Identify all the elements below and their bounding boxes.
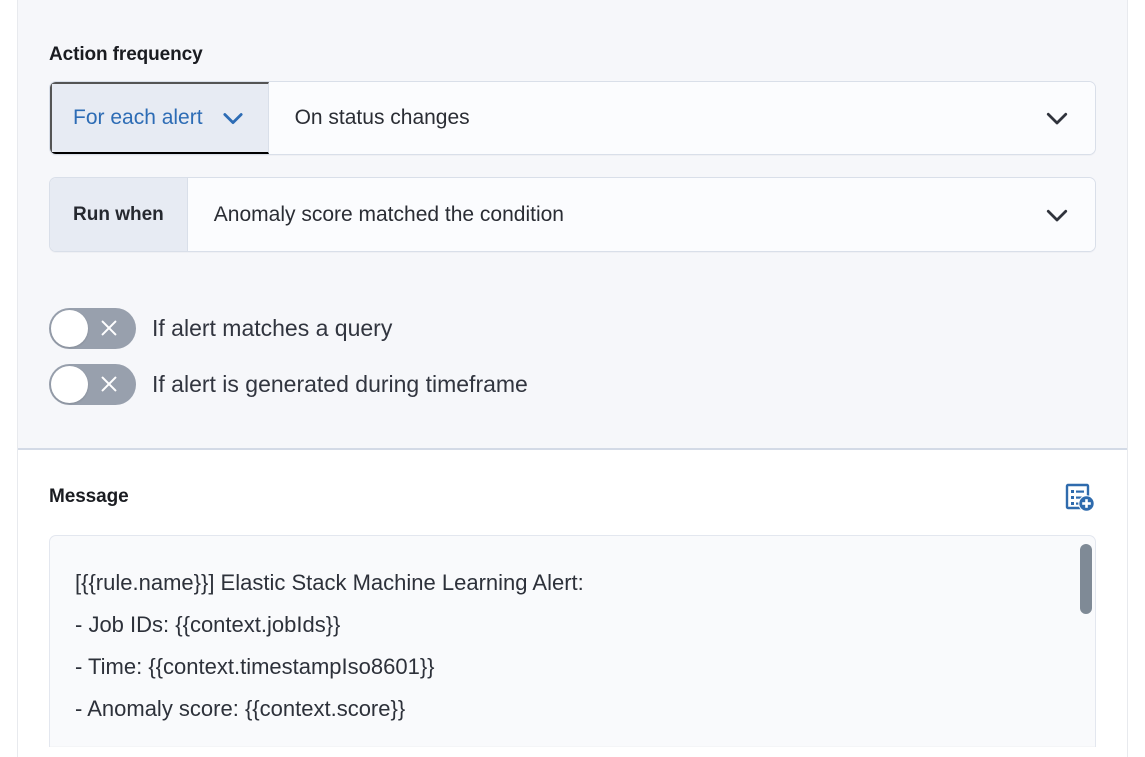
action-frequency-section: Action frequency For each alert On statu… — [18, 0, 1127, 450]
message-scrollbar[interactable] — [1077, 536, 1095, 747]
toggle-knob — [51, 310, 88, 347]
message-textarea-wrapper: [{{rule.name}}] Elastic Stack Machine Le… — [49, 535, 1096, 747]
chevron-down-icon — [1042, 200, 1072, 230]
run-when-row: Run when Anomaly score matched the condi… — [49, 177, 1096, 252]
alert-timeframe-toggle[interactable] — [49, 364, 136, 405]
toggle-knob — [51, 366, 88, 403]
condition-toggles: If alert matches a query If alert is gen… — [49, 308, 1096, 404]
message-section: Message — [18, 450, 1127, 755]
chevron-down-icon — [219, 104, 247, 132]
action-settings-panel: Action frequency For each alert On statu… — [17, 0, 1128, 757]
notify-when-value: On status changes — [295, 106, 470, 130]
message-scrollbar-thumb[interactable] — [1080, 544, 1092, 614]
add-variable-icon — [1064, 502, 1096, 517]
run-when-prepend: Run when — [50, 178, 188, 251]
alert-matches-query-label: If alert matches a query — [152, 315, 392, 342]
cross-icon — [98, 317, 120, 339]
alert-timeframe-label: If alert is generated during timeframe — [152, 371, 528, 398]
toggle-row-alert-matches-query: If alert matches a query — [49, 308, 1096, 348]
message-title: Message — [49, 486, 129, 508]
screen-root: Action frequency For each alert On statu… — [0, 0, 1145, 757]
action-summary-row: For each alert On status changes — [49, 81, 1096, 155]
alert-matches-query-toggle[interactable] — [49, 308, 136, 349]
add-variable-button[interactable] — [1064, 482, 1096, 514]
for-each-alert-label: For each alert — [73, 106, 203, 130]
cross-icon — [98, 373, 120, 395]
action-frequency-title: Action frequency — [49, 0, 1096, 66]
for-each-alert-button[interactable]: For each alert — [50, 82, 269, 154]
chevron-down-icon — [1042, 103, 1072, 133]
toggle-row-alert-timeframe: If alert is generated during timeframe — [49, 364, 1096, 404]
message-header: Message — [49, 450, 1096, 514]
run-when-value: Anomaly score matched the condition — [214, 203, 564, 227]
notify-when-select[interactable]: On status changes — [269, 82, 1095, 154]
run-when-label: Run when — [71, 204, 166, 226]
message-textarea[interactable]: [{{rule.name}}] Elastic Stack Machine Le… — [50, 536, 1095, 730]
run-when-select[interactable]: Anomaly score matched the condition — [188, 178, 1095, 251]
